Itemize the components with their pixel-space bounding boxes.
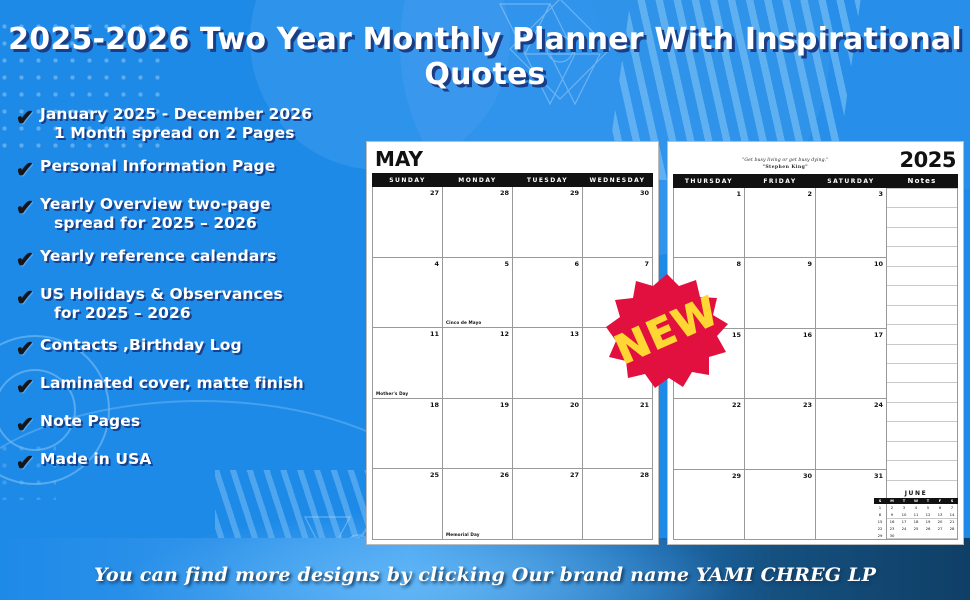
feature-text: Made in USA <box>40 450 151 469</box>
check-icon: ✔ <box>10 247 40 271</box>
check-icon: ✔ <box>10 412 40 436</box>
day-number: 18 <box>430 401 439 409</box>
mini-day-cell: 22 <box>874 525 886 532</box>
feature-text: Note Pages <box>40 412 140 431</box>
calendar-day-cell[interactable]: 10 <box>816 258 887 328</box>
day-number: 31 <box>874 472 883 480</box>
calendar-day-cell[interactable]: 5Cinco de Mayo <box>443 257 513 328</box>
day-number: 2 <box>807 190 812 198</box>
mini-day-cell: 8 <box>874 511 886 518</box>
day-number: 10 <box>874 260 883 268</box>
day-number: 30 <box>803 472 812 480</box>
calendar-day-cell[interactable]: 2 <box>745 188 816 258</box>
list-item: ✔ Contacts ,Birthday Log <box>10 336 365 360</box>
mini-day-cell: 25 <box>910 525 922 532</box>
year-label: 2025 <box>900 151 956 171</box>
day-number: 28 <box>500 189 509 197</box>
calendar-day-cell[interactable]: 21 <box>583 398 653 469</box>
calendar-day-cell[interactable]: 3 <box>816 188 887 258</box>
calendar-day-cell[interactable]: 30 <box>745 469 816 539</box>
calendar-day-cell[interactable]: 11Mother's Day <box>373 328 443 399</box>
day-number: 20 <box>570 401 579 409</box>
feature-text: January 2025 - December 2026 1 Month spr… <box>40 105 312 143</box>
calendar-day-cell[interactable]: 27 <box>373 187 443 258</box>
weekday-header-row: THURSDAYFRIDAYSATURDAYNotes <box>674 175 958 188</box>
weekday-header-sunday: SUNDAY <box>373 174 443 187</box>
note-line <box>887 324 957 325</box>
note-line <box>887 227 957 228</box>
day-number: 4 <box>434 260 439 268</box>
note-line <box>887 363 957 364</box>
calendar-week-row: 2526Memorial Day2728 <box>373 469 653 540</box>
note-line <box>887 421 957 422</box>
mini-week-row: 1234567 <box>874 504 958 511</box>
day-number: 13 <box>570 330 579 338</box>
note-line <box>887 402 957 403</box>
mini-day-cell: 12 <box>922 511 934 518</box>
calendar-day-cell[interactable]: 6 <box>513 257 583 328</box>
day-number: 27 <box>430 189 439 197</box>
feature-text: Personal Information Page <box>40 157 275 176</box>
calendar-day-cell[interactable]: 30 <box>583 187 653 258</box>
list-item: ✔ Yearly Overview two-page spread for 20… <box>10 195 365 233</box>
calendar-day-cell[interactable]: 1 <box>674 188 745 258</box>
month-name: MAY <box>372 147 653 173</box>
calendar-day-cell[interactable]: 4 <box>373 257 443 328</box>
calendar-day-cell[interactable]: 12 <box>443 328 513 399</box>
weekday-header-thursday: THURSDAY <box>674 175 745 188</box>
mini-day-cell <box>946 532 958 539</box>
note-line <box>887 480 957 481</box>
feature-text: Laminated cover, matte finish <box>40 374 304 393</box>
feature-text: Contacts ,Birthday Log <box>40 336 242 355</box>
page-title: 2025-2026 Two Year Monthly Planner With … <box>0 22 970 92</box>
calendar-week-row: 27282930 <box>373 187 653 258</box>
mini-day-cell: 3 <box>898 504 910 511</box>
calendar-day-cell[interactable]: 17 <box>816 328 887 398</box>
day-number: 27 <box>570 471 579 479</box>
mini-day-cell: 6 <box>934 504 946 511</box>
list-item: ✔ Yearly reference calendars <box>10 247 365 271</box>
weekday-header-tuesday: TUESDAY <box>513 174 583 187</box>
check-icon: ✔ <box>10 336 40 360</box>
calendar-day-cell[interactable]: 28 <box>583 469 653 540</box>
mini-day-cell: 4 <box>910 504 922 511</box>
mini-day-cell: 16 <box>886 518 898 525</box>
day-number: 16 <box>803 331 812 339</box>
inspirational-quote: "Get busy living or get busy dying." "St… <box>675 158 900 171</box>
calendar-week-row: 18192021 <box>373 398 653 469</box>
weekday-header-friday: FRIDAY <box>745 175 816 188</box>
day-number: 1 <box>736 190 741 198</box>
list-item: ✔ Made in USA <box>10 450 365 474</box>
mini-day-cell: 17 <box>898 518 910 525</box>
day-number: 19 <box>500 401 509 409</box>
new-badge: NEW <box>604 272 730 390</box>
note-line <box>887 285 957 286</box>
day-number: 29 <box>570 189 579 197</box>
weekday-header-monday: MONDAY <box>443 174 513 187</box>
feature-text: Yearly Overview two-page spread for 2025… <box>40 195 271 233</box>
list-item: ✔ US Holidays & Observances for 2025 – 2… <box>10 285 365 323</box>
mini-day-cell: 11 <box>910 511 922 518</box>
feature-list: ✔ January 2025 - December 2026 1 Month s… <box>10 105 365 488</box>
holiday-label: Mother's Day <box>376 391 408 396</box>
mini-day-cell: 19 <box>922 518 934 525</box>
mini-week-row: 2930 <box>874 532 958 539</box>
day-number: 30 <box>640 189 649 197</box>
mini-day-cell <box>910 532 922 539</box>
calendar-day-cell[interactable]: 9 <box>745 258 816 328</box>
mini-day-cell: 15 <box>874 518 886 525</box>
mini-day-cell: 20 <box>934 518 946 525</box>
mini-week-row: 891011121314 <box>874 511 958 518</box>
mini-day-cell: 26 <box>922 525 934 532</box>
notes-column-header: Notes <box>887 175 958 188</box>
calendar-day-cell[interactable]: 19 <box>443 398 513 469</box>
day-number: 12 <box>500 330 509 338</box>
day-number: 24 <box>874 401 883 409</box>
day-number: 9 <box>807 260 812 268</box>
mini-day-cell: 14 <box>946 511 958 518</box>
day-number: 28 <box>640 471 649 479</box>
mini-day-cell <box>934 532 946 539</box>
mini-day-cell: 24 <box>898 525 910 532</box>
feature-text: Yearly reference calendars <box>40 247 276 266</box>
check-icon: ✔ <box>10 105 40 129</box>
mini-day-cell: 23 <box>886 525 898 532</box>
mini-day-cell <box>898 532 910 539</box>
feature-text: US Holidays & Observances for 2025 – 202… <box>40 285 283 323</box>
brand-banner: You can find more designs by clicking Ou… <box>0 564 970 586</box>
calendar-day-cell[interactable]: 26Memorial Day <box>443 469 513 540</box>
weekday-header-saturday: SATURDAY <box>816 175 887 188</box>
note-line <box>887 460 957 461</box>
list-item: ✔ Note Pages <box>10 412 365 436</box>
calendar-day-cell[interactable]: 25 <box>373 469 443 540</box>
calendar-day-cell[interactable]: 29 <box>513 187 583 258</box>
calendar-day-cell[interactable]: 16 <box>745 328 816 398</box>
mini-day-cell: 21 <box>946 518 958 525</box>
calendar-day-cell[interactable]: 23 <box>745 399 816 469</box>
mini-day-cell: 30 <box>886 532 898 539</box>
check-icon: ✔ <box>10 195 40 219</box>
day-number: 7 <box>644 260 649 268</box>
day-number: 22 <box>732 401 741 409</box>
mini-day-cell: 2 <box>886 504 898 511</box>
mini-calendar-title: JUNE <box>874 490 958 498</box>
calendar-day-cell[interactable]: 22 <box>674 399 745 469</box>
mini-week-row: 22232425262728 <box>874 525 958 532</box>
note-line <box>887 207 957 208</box>
calendar-day-cell[interactable]: 24 <box>816 399 887 469</box>
check-icon: ✔ <box>10 157 40 181</box>
note-line <box>887 305 957 306</box>
calendar-day-cell[interactable]: 27 <box>513 469 583 540</box>
mini-calendar-june: JUNE SMTWTFS 123456789101112131415161718… <box>874 490 958 539</box>
list-item: ✔ January 2025 - December 2026 1 Month s… <box>10 105 365 143</box>
note-line <box>887 246 957 247</box>
check-icon: ✔ <box>10 374 40 398</box>
holiday-label: Cinco de Mayo <box>446 320 481 325</box>
day-number: 6 <box>574 260 579 268</box>
calendar-day-cell[interactable]: 18 <box>373 398 443 469</box>
mini-day-cell: 10 <box>898 511 910 518</box>
list-item: ✔ Laminated cover, matte finish <box>10 374 365 398</box>
calendar-day-cell[interactable]: 29 <box>674 469 745 539</box>
notes-column[interactable] <box>887 188 958 540</box>
mini-day-cell: 18 <box>910 518 922 525</box>
calendar-day-cell[interactable]: 13 <box>513 328 583 399</box>
day-number: 5 <box>504 260 509 268</box>
mini-day-cell: 29 <box>874 532 886 539</box>
day-number: 3 <box>878 190 883 198</box>
day-number: 25 <box>430 471 439 479</box>
check-icon: ✔ <box>10 285 40 309</box>
day-number: 17 <box>874 331 883 339</box>
calendar-day-cell[interactable]: 28 <box>443 187 513 258</box>
mini-day-cell: 7 <box>946 504 958 511</box>
calendar-day-cell[interactable]: 20 <box>513 398 583 469</box>
mini-day-cell <box>922 532 934 539</box>
day-number: 11 <box>430 330 439 338</box>
mini-day-cell: 27 <box>934 525 946 532</box>
holiday-label: Memorial Day <box>446 532 480 537</box>
mini-day-cell: 13 <box>934 511 946 518</box>
note-line <box>887 441 957 442</box>
mini-day-cell: 9 <box>886 511 898 518</box>
list-item: ✔ Personal Information Page <box>10 157 365 181</box>
mini-week-row: 15161718192021 <box>874 518 958 525</box>
calendar-week-row: 123 <box>674 188 958 258</box>
mini-day-cell: 1 <box>874 504 886 511</box>
note-line <box>887 266 957 267</box>
note-line <box>887 188 957 189</box>
note-line <box>887 344 957 345</box>
day-number: 26 <box>500 471 509 479</box>
mini-day-cell: 5 <box>922 504 934 511</box>
mini-day-cell: 28 <box>946 525 958 532</box>
note-line <box>887 382 957 383</box>
check-icon: ✔ <box>10 450 40 474</box>
day-number: 29 <box>732 472 741 480</box>
weekday-header-row: SUNDAYMONDAYTUESDAYWEDNESDAY <box>373 174 653 187</box>
day-number: 23 <box>803 401 812 409</box>
weekday-header-wednesday: WEDNESDAY <box>583 174 653 187</box>
day-number: 8 <box>736 260 741 268</box>
